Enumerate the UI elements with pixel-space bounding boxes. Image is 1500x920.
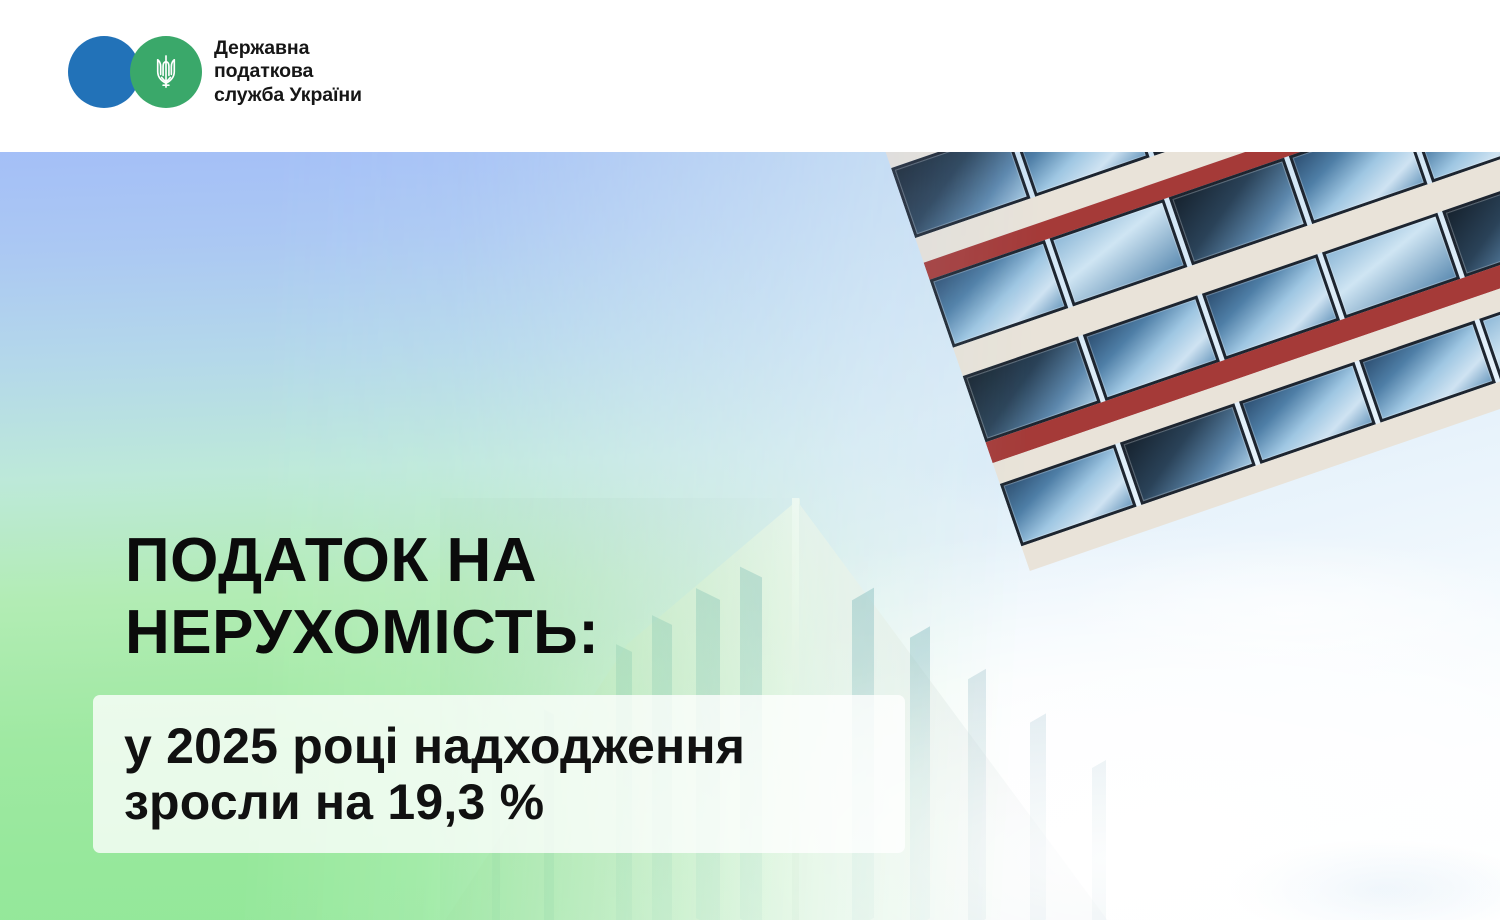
poster-canvas: ПОДАТОК НА НЕРУХОМІСТЬ: у 2025 році надх… xyxy=(0,0,1500,920)
subtitle-text: у 2025 році надходження зросли на 19,3 % xyxy=(124,718,914,830)
logo-line-1: Державна xyxy=(214,37,362,61)
ukrainian-trident-icon xyxy=(151,53,181,91)
logo-line-3: служба України xyxy=(214,84,362,108)
page-title: ПОДАТОК НА НЕРУХОМІСТЬ: xyxy=(125,525,945,669)
header-bar: Державна податкова служба України xyxy=(0,0,1500,152)
logo-mark xyxy=(68,36,202,108)
hero-photo: ПОДАТОК НА НЕРУХОМІСТЬ: у 2025 році надх… xyxy=(0,152,1500,920)
logo-green-circle-icon xyxy=(130,36,202,108)
organization-logo[interactable]: Державна податкова служба України xyxy=(68,36,362,108)
logo-wordmark: Державна податкова служба України xyxy=(214,37,362,108)
logo-line-2: податкова xyxy=(214,60,362,84)
